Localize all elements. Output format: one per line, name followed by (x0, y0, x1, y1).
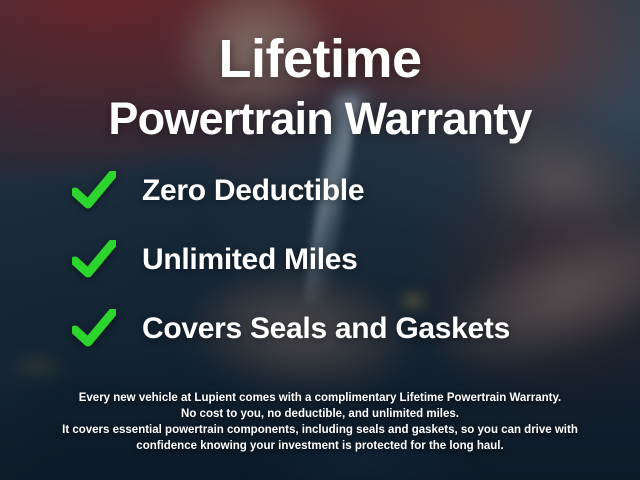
benefit-item: Covers Seals and Gaskets (72, 309, 640, 349)
headline-line-2: Powertrain Warranty (0, 96, 640, 141)
footnote-line-4: confidence knowing your investment is pr… (34, 438, 606, 454)
benefit-item: Zero Deductible (72, 171, 640, 211)
benefit-label: Zero Deductible (142, 174, 364, 208)
check-icon (72, 309, 116, 349)
lifetime-powertrain-warranty-banner: Lifetime Powertrain Warranty Zero Deduct… (0, 0, 640, 480)
benefit-item: Unlimited Miles (72, 240, 640, 280)
headline-line-1: Lifetime (0, 32, 640, 86)
benefit-label: Covers Seals and Gaskets (142, 312, 510, 346)
footnote-line-2: No cost to you, no deductible, and unlim… (34, 406, 606, 422)
benefits-list: Zero Deductible Unlimited Miles Covers S… (0, 171, 640, 349)
footnote-line-1: Every new vehicle at Lupient comes with … (34, 390, 606, 406)
benefit-label: Unlimited Miles (142, 243, 358, 277)
banner-content: Lifetime Powertrain Warranty Zero Deduct… (0, 0, 640, 480)
footnote-paragraph: Every new vehicle at Lupient comes with … (0, 390, 640, 454)
check-icon (72, 240, 116, 280)
footnote-line-3: It covers essential powertrain component… (34, 422, 606, 438)
check-icon (72, 171, 116, 211)
